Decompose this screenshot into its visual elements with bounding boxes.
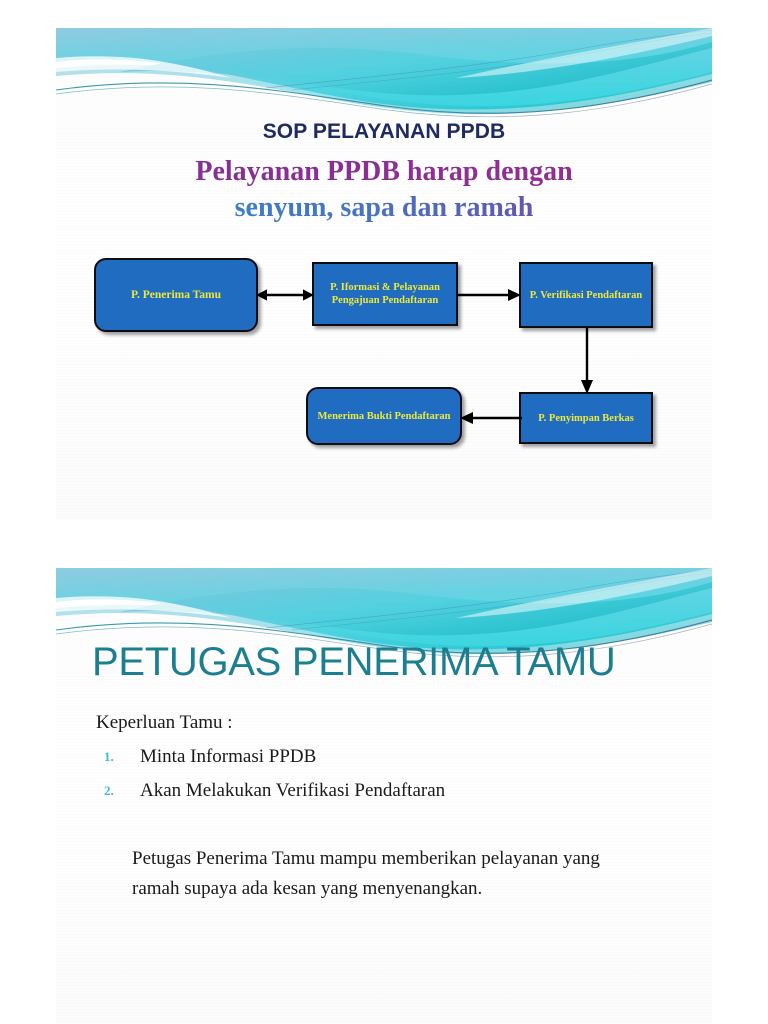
keperluan-tamu-lead: Keperluan Tamu : [96,710,676,736]
process-flowchart: P. Penerima Tamu P. Iformasi & Pelayanan… [56,28,712,520]
flow-box-verifikasi[interactable]: P. Verifikasi Pendaftaran [519,262,653,328]
double-arrow-icon [256,286,314,304]
flow-box-label: Menerima Bukti Pendaftaran [314,410,455,423]
slide-sop-pelayanan-ppdb[interactable]: SOP PELAYANAN PPDB Pelayanan PPDB harap … [56,28,712,520]
flow-box-label: P. Penyimpan Berkas [534,412,638,425]
list-item-label: Akan Melakukan Verifikasi Pendaftaran [140,780,445,801]
arrow-right-icon [457,286,521,304]
flow-box-label: P. Verifikasi Pendaftaran [526,289,647,302]
slide-2-title: PETUGAS PENERIMA TAMU [92,638,692,686]
flow-box-label: P. Penerima Tamu [127,288,225,302]
list-item: 1. Minta Informasi PPDB [96,740,676,774]
list-marker: 2. [104,774,126,808]
arrow-down-icon [578,328,596,394]
flow-box-penerima-tamu[interactable]: P. Penerima Tamu [94,258,258,332]
slide-petugas-penerima-tamu[interactable]: PETUGAS PENERIMA TAMU Keperluan Tamu : 1… [56,568,712,1024]
list-marker: 1. [104,740,126,774]
list-item-label: Minta Informasi PPDB [140,746,316,767]
list-item: 2. Akan Melakukan Verifikasi Pendaftaran [96,774,676,808]
slide-2-body: Keperluan Tamu : 1. Minta Informasi PPDB… [96,710,676,904]
flow-box-label: P. Iformasi & Pelayanan Pengajuan Pendaf… [314,281,456,307]
arrow-left-icon [460,409,522,427]
keperluan-tamu-list: 1. Minta Informasi PPDB 2. Akan Melakuka… [96,740,676,808]
flow-box-menerima-bukti[interactable]: Menerima Bukti Pendaftaran [306,387,462,445]
flow-box-penyimpan-berkas[interactable]: P. Penyimpan Berkas [519,392,653,444]
flow-box-informasi[interactable]: P. Iformasi & Pelayanan Pengajuan Pendaf… [312,262,458,326]
closing-paragraph: Petugas Penerima Tamu mampu memberikan p… [132,844,632,904]
